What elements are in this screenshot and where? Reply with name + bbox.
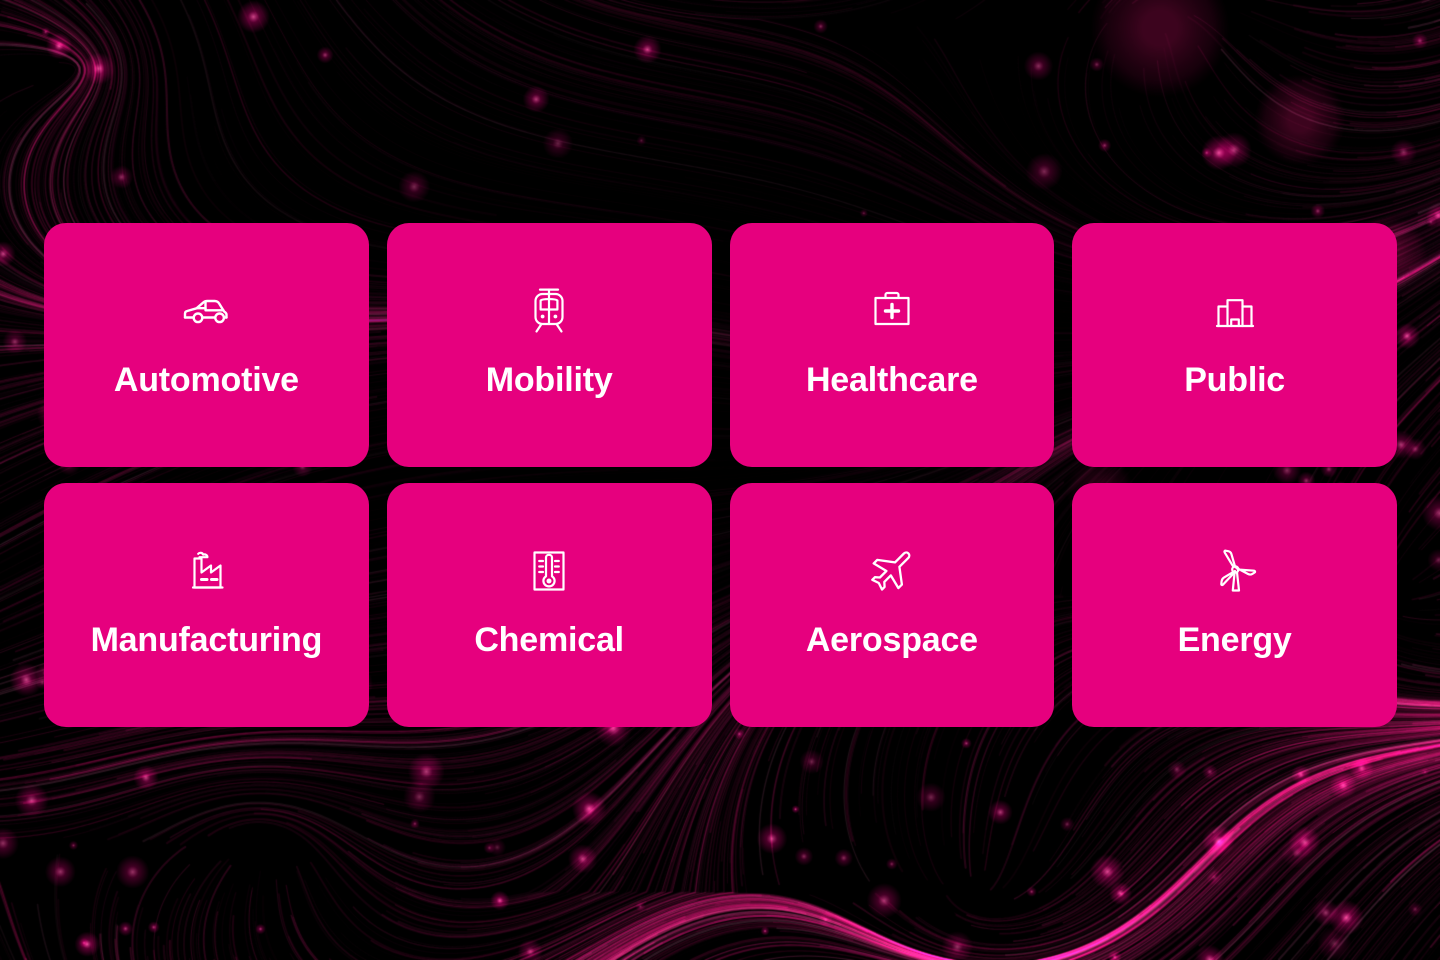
tile-label: Mobility [486,363,613,397]
factory-icon [180,545,232,597]
tile-label: Healthcare [806,363,978,397]
industry-tile-grid: Automotive Mobility [44,223,1397,727]
tile-healthcare[interactable]: Healthcare [730,223,1055,467]
tile-energy[interactable]: Energy [1072,483,1397,727]
tram-icon [523,285,575,337]
tile-public[interactable]: Public [1072,223,1397,467]
tile-label: Public [1184,363,1285,397]
thermometer-icon [523,545,575,597]
tile-chemical[interactable]: Chemical [387,483,712,727]
tile-label: Energy [1178,623,1292,657]
tile-label: Manufacturing [91,623,323,657]
tile-aerospace[interactable]: Aerospace [730,483,1055,727]
tile-automotive[interactable]: Automotive [44,223,369,467]
tile-mobility[interactable]: Mobility [387,223,712,467]
wind-turbine-icon [1209,545,1261,597]
tile-label: Aerospace [806,623,978,657]
medical-bag-icon [866,285,918,337]
tile-label: Chemical [474,623,624,657]
tile-manufacturing[interactable]: Manufacturing [44,483,369,727]
government-building-icon [1209,285,1261,337]
car-icon [180,285,232,337]
tile-label: Automotive [114,363,299,397]
airplane-icon [866,545,918,597]
page-root: Automotive Mobility [0,0,1440,960]
